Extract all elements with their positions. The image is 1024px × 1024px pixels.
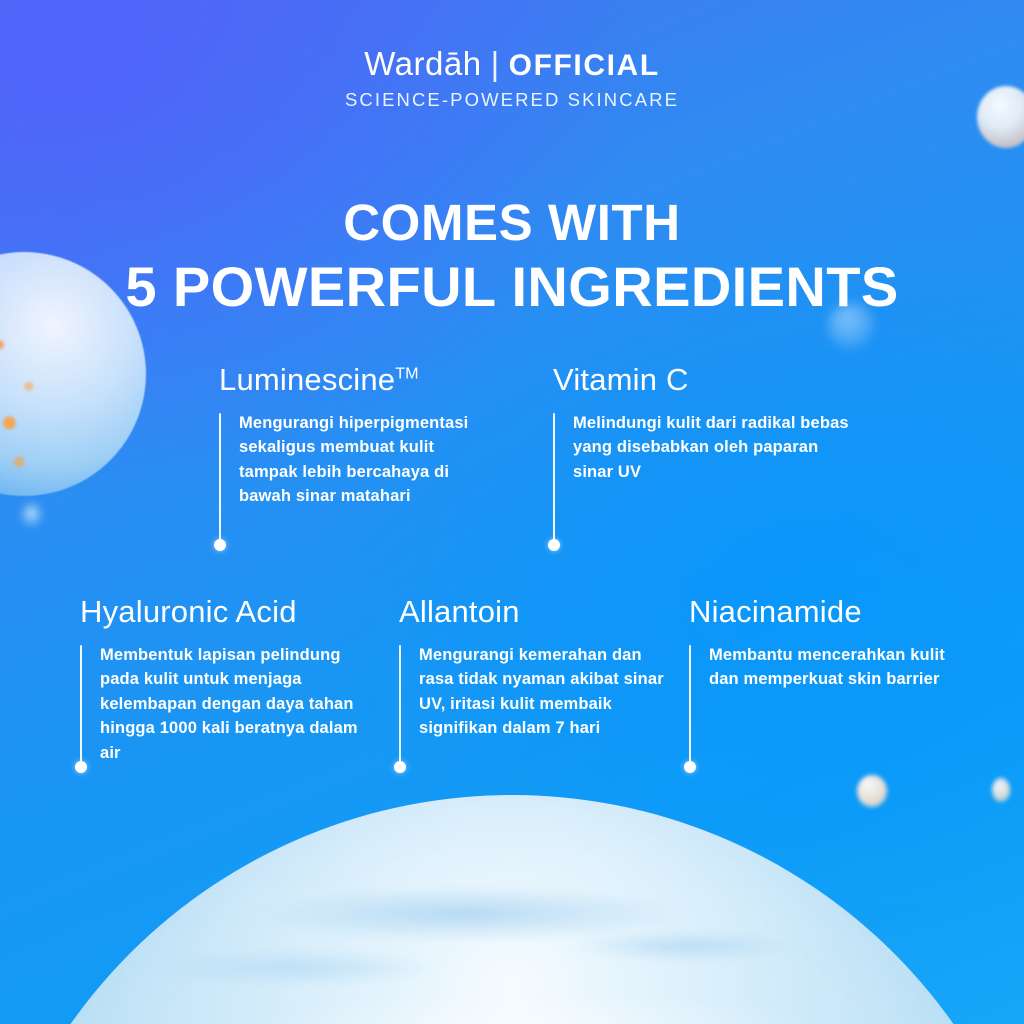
ingredient-card-vitamin-c: Vitamin C Melindungi kulit dari radikal …: [553, 362, 858, 484]
brand-logo-row: Wardāh|OFFICIAL: [0, 46, 1024, 82]
ingredient-description: Mengurangi kemerahan dan rasa tidak nyam…: [419, 646, 664, 737]
ingredient-name: Niacinamide: [689, 594, 862, 629]
brand-official-label: OFFICIAL: [509, 49, 660, 82]
trademark-symbol: TM: [395, 365, 418, 383]
ingredient-description-wrap: Mengurangi hiperpigmentasi sekaligus mem…: [219, 411, 489, 509]
decorative-sphere-bottom: [0, 795, 1024, 1024]
ingredient-description-wrap: Membentuk lapisan pelindung pada kulit u…: [80, 643, 365, 765]
ingredient-name: Hyaluronic Acid: [80, 594, 297, 629]
connector-dot: [548, 539, 560, 551]
ingredient-card-niacinamide: Niacinamide Membantu mencerahkan kulit d…: [689, 594, 979, 692]
decorative-bubble-bottom-right: [857, 775, 887, 807]
ingredient-card-allantoin: Allantoin Mengurangi kemerahan dan rasa …: [399, 594, 674, 741]
connector-line: [553, 413, 555, 545]
connector-dot: [684, 761, 696, 773]
connector-line: [399, 645, 401, 767]
ingredient-name: Allantoin: [399, 594, 520, 629]
ingredient-name: Luminescine: [219, 362, 395, 397]
brand-name: Wardāh: [364, 45, 481, 82]
decorative-bubble-left-small: [24, 505, 40, 525]
headline-line-1: COMES WITH: [0, 197, 1024, 248]
ingredient-name: Vitamin C: [553, 362, 689, 397]
connector-dot: [75, 761, 87, 773]
ingredient-title: Vitamin C: [553, 362, 858, 398]
ingredient-title: Allantoin: [399, 594, 674, 630]
connector-line: [80, 645, 82, 767]
ingredient-title: LuminescineTM: [219, 362, 489, 398]
ingredient-description: Membantu mencerahkan kulit dan memperkua…: [709, 646, 945, 688]
ingredient-card-luminescine: LuminescineTM Mengurangi hiperpigmentasi…: [219, 362, 489, 509]
page-title: COMES WITH 5 POWERFUL INGREDIENTS: [0, 197, 1024, 320]
ingredient-description-wrap: Membantu mencerahkan kulit dan memperkua…: [689, 643, 979, 692]
connector-line: [219, 413, 221, 545]
connector-dot: [214, 539, 226, 551]
ingredient-description: Membentuk lapisan pelindung pada kulit u…: [100, 646, 358, 762]
ingredient-title: Niacinamide: [689, 594, 979, 630]
connector-line: [689, 645, 691, 767]
headline-line-2: 5 POWERFUL INGREDIENTS: [0, 254, 1024, 320]
brand-tagline: SCIENCE-POWERED SKINCARE: [0, 89, 1024, 111]
decorative-bubble-bottom-far-right: [992, 778, 1010, 802]
ingredient-title: Hyaluronic Acid: [80, 594, 365, 630]
connector-dot: [394, 761, 406, 773]
background-decoration-layer: [0, 0, 1024, 1024]
brand-logo: Wardāh|OFFICIAL SCIENCE-POWERED SKINCARE: [0, 46, 1024, 111]
ingredient-description-wrap: Melindungi kulit dari radikal bebas yang…: [553, 411, 858, 484]
poster-canvas: Wardāh|OFFICIAL SCIENCE-POWERED SKINCARE…: [0, 0, 1024, 1024]
ingredient-description: Mengurangi hiperpigmentasi sekaligus mem…: [239, 414, 468, 505]
ingredient-card-hyaluronic-acid: Hyaluronic Acid Membentuk lapisan pelind…: [80, 594, 365, 765]
brand-separator: |: [491, 45, 500, 82]
ingredient-description: Melindungi kulit dari radikal bebas yang…: [573, 414, 849, 481]
ingredient-description-wrap: Mengurangi kemerahan dan rasa tidak nyam…: [399, 643, 674, 741]
